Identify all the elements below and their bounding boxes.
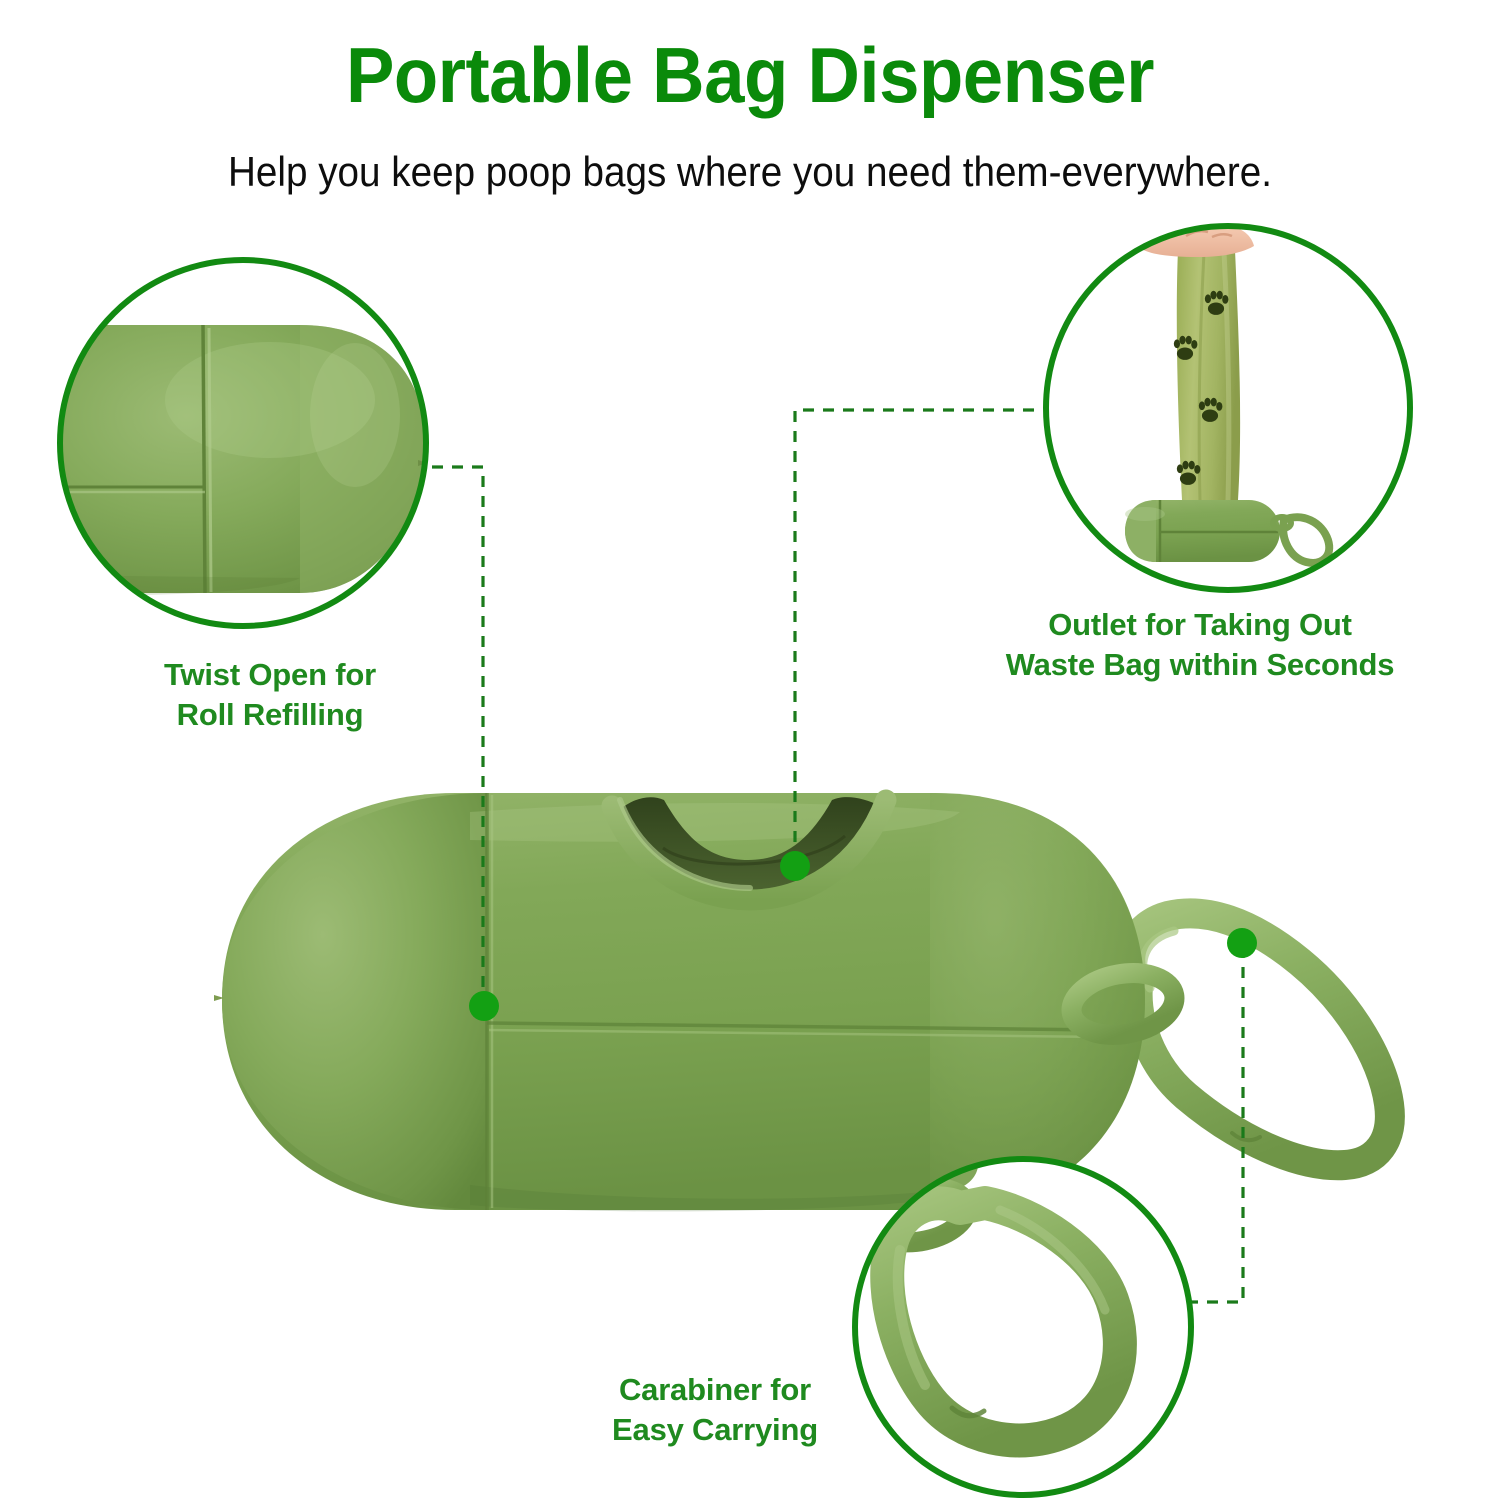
inset-twist-open[interactable] bbox=[25, 255, 435, 635]
inset-outlet[interactable] bbox=[1040, 220, 1420, 600]
hotspot-dot-twist-open[interactable] bbox=[469, 991, 499, 1021]
hotspot-dot-outlet[interactable] bbox=[780, 851, 810, 881]
carabiner-clip-main bbox=[1130, 913, 1390, 1165]
carabiner-ring bbox=[1130, 913, 1390, 1165]
body-right-dome bbox=[930, 793, 1145, 1210]
body-left-cap bbox=[222, 793, 487, 1210]
infographic-canvas: Portable Bag Dispenser Help you keep poo… bbox=[0, 0, 1500, 1500]
product-illustration bbox=[0, 0, 1500, 1500]
hotspot-dot-carabiner[interactable] bbox=[1227, 928, 1257, 958]
